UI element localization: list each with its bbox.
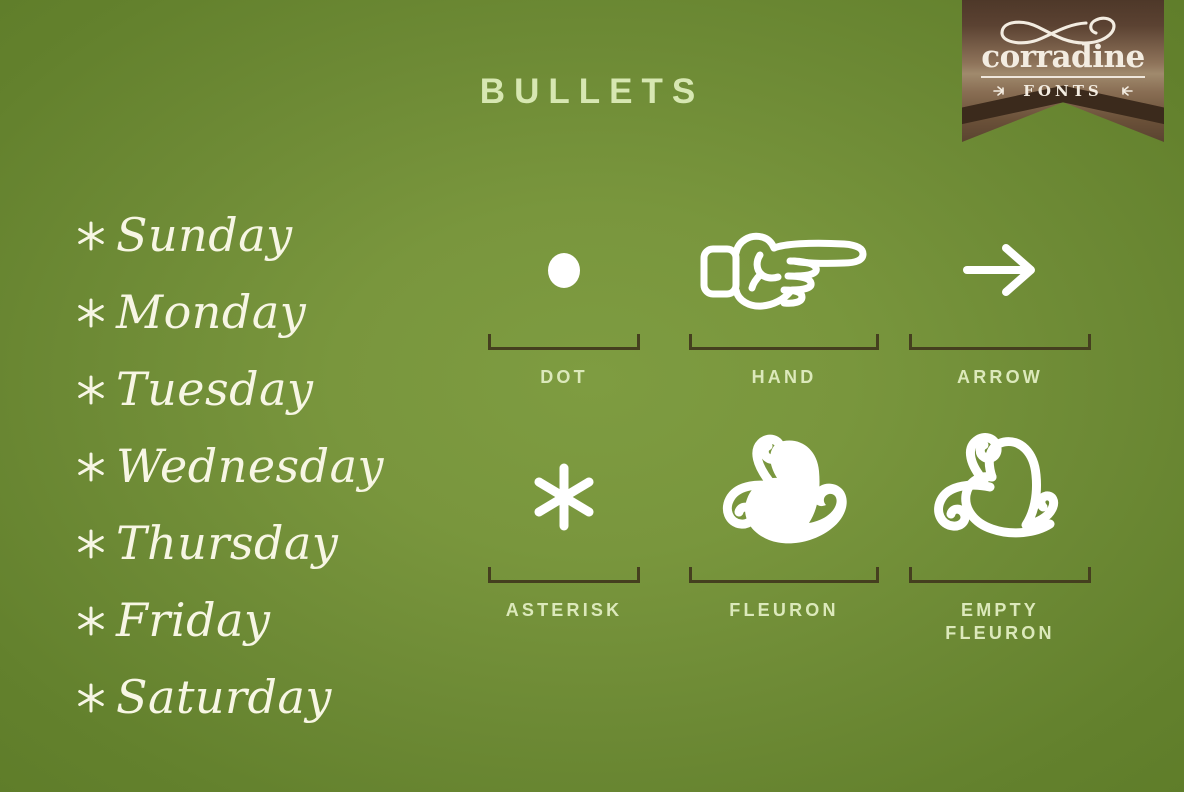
bullet-label: ASTERISK	[460, 599, 668, 622]
bullet-row-2: ASTERISK FLEURON	[460, 427, 1100, 645]
arrow-glyph-area	[900, 206, 1100, 334]
bullet-cell-dot: DOT	[460, 206, 668, 389]
weekday-list: Sunday Monday Tuesday	[74, 196, 474, 735]
list-item: Sunday	[74, 196, 474, 273]
list-item: Monday	[74, 273, 474, 350]
dot-icon	[548, 253, 580, 288]
logo-subtitle-row: FONTS	[962, 82, 1164, 100]
asterisk-bullet-icon	[74, 296, 108, 330]
asterisk-bullet-icon	[74, 604, 108, 638]
bullet-label: ARROW	[900, 366, 1100, 389]
asterisk-bullet-icon	[74, 219, 108, 253]
asterisk-bullet-icon	[74, 681, 108, 715]
list-item-label: Tuesday	[116, 366, 314, 412]
list-item: Wednesday	[74, 427, 474, 504]
logo-divider-rule	[981, 76, 1145, 78]
bullet-specimen-grid: DOT	[460, 206, 1100, 645]
list-item-label: Wednesday	[116, 443, 384, 489]
bullet-label: HAND	[668, 366, 900, 389]
asterisk-icon	[531, 461, 597, 533]
bracket-rule	[909, 567, 1091, 583]
bullet-cell-asterisk: ASTERISK	[460, 427, 668, 622]
bracket-rule	[689, 334, 879, 350]
arrow-right-icon	[962, 243, 1038, 297]
asterisk-bullet-icon	[74, 373, 108, 407]
empty-fleuron-glyph-area	[900, 427, 1100, 567]
right-dart-icon	[1112, 86, 1132, 96]
list-item: Tuesday	[74, 350, 474, 427]
asterisk-glyph-area	[460, 427, 668, 567]
fleuron-glyph-area	[668, 427, 900, 567]
list-item-label: Friday	[116, 597, 270, 643]
bullet-cell-empty-fleuron: EMPTY FLEURON	[900, 427, 1100, 645]
asterisk-bullet-icon	[74, 527, 108, 561]
pointing-hand-icon	[698, 227, 870, 313]
bullet-label: FLEURON	[668, 599, 900, 622]
bullet-cell-hand: HAND	[668, 206, 900, 389]
bullet-cell-arrow: ARROW	[900, 206, 1100, 389]
list-item-label: Thursday	[116, 520, 338, 566]
asterisk-bullet-icon	[74, 450, 108, 484]
bullet-label: EMPTY FLEURON	[900, 599, 1100, 645]
left-dart-icon	[994, 86, 1014, 96]
bullet-row-1: DOT	[460, 206, 1100, 389]
bullet-label: DOT	[460, 366, 668, 389]
bullet-cell-fleuron: FLEURON	[668, 427, 900, 622]
fleuron-icon	[705, 425, 863, 569]
bracket-rule	[909, 334, 1091, 350]
poster-canvas: BULLETS corradine FONTS	[0, 0, 1184, 792]
corradine-fonts-logo: corradine FONTS	[962, 0, 1164, 142]
logo-subtitle: FONTS	[1023, 82, 1102, 100]
bracket-rule	[488, 567, 640, 583]
list-item: Friday	[74, 581, 474, 658]
dot-glyph-area	[460, 206, 668, 334]
empty-fleuron-icon	[916, 425, 1084, 569]
bracket-rule	[689, 567, 879, 583]
list-item: Thursday	[74, 504, 474, 581]
list-item-label: Sunday	[116, 212, 293, 258]
list-item-label: Monday	[116, 289, 306, 335]
list-item-label: Saturday	[116, 674, 332, 720]
hand-glyph-area	[668, 206, 900, 334]
logo-wordmark: corradine	[962, 42, 1164, 73]
bracket-rule	[488, 334, 640, 350]
list-item: Saturday	[74, 658, 474, 735]
